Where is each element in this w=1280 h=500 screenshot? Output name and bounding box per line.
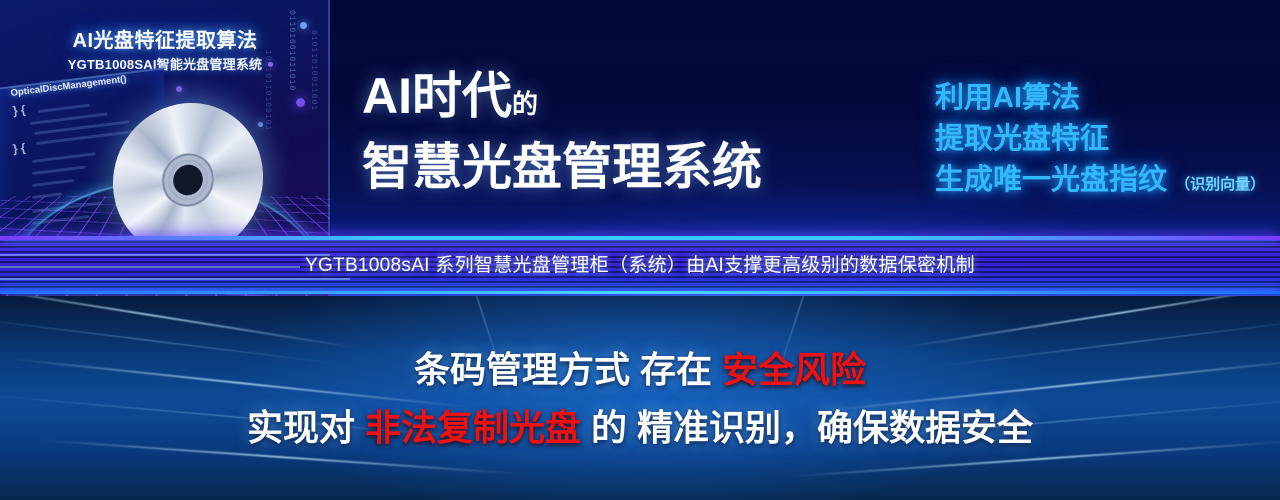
headline-main-text: AI时代 (362, 68, 512, 124)
panel-subtitle: YGTB1008SAI智能光盘管理系统 (0, 54, 330, 73)
bottom-highlight-2: 非法复制光盘 (365, 407, 581, 448)
panel-title: AI光盘特征提取算法 (0, 24, 330, 53)
band-streak (0, 278, 350, 280)
code-brace-close: } { (12, 140, 26, 155)
bottom-text-1a: 条码管理方式 存在 (414, 349, 722, 390)
particle-dot (296, 98, 305, 107)
headline-line-2: 智慧光盘管理系统 (362, 134, 882, 200)
particle-dot (268, 62, 273, 67)
particle-dot (258, 122, 263, 127)
promo-banner: AI光盘特征提取算法 YGTB1008SAI智能光盘管理系统 OpticalDi… (0, 0, 1280, 500)
bottom-text-2b: 的 精准识别，确保数据安全 (581, 407, 1033, 448)
code-brace-open: } { (12, 102, 26, 117)
feature-note: （识别向量） (1175, 176, 1265, 193)
feature-list: 利用AI算法 提取光盘特征 生成唯一光盘指纹 （识别向量） (935, 78, 1275, 205)
binary-stream: 01011010011001 (308, 30, 318, 180)
subtitle-band-text: YGTB1008sAI 系列智慧光盘管理柜（系统）由AI支撑更高级别的数据保密机… (0, 250, 1280, 277)
bottom-headline-2: 实现对 非法复制光盘 的 精准识别，确保数据安全 (0, 399, 1280, 451)
particle-dot (300, 22, 307, 29)
feature-item-3-text: 生成唯一光盘指纹 (935, 164, 1167, 196)
feature-item-1: 利用AI算法 (935, 78, 1275, 119)
headline-block: AI时代的 智慧光盘管理系统 (362, 66, 882, 200)
headline-small-text: 的 (512, 89, 538, 119)
feature-item-3: 生成唯一光盘指纹 （识别向量） (935, 160, 1275, 205)
bottom-highlight-1: 安全风险 (722, 349, 866, 390)
headline-line-1: AI时代的 (362, 66, 882, 134)
bottom-text-2a: 实现对 (247, 407, 365, 448)
particle-dot (176, 86, 182, 92)
top-section: AI光盘特征提取算法 YGTB1008SAI智能光盘管理系统 OpticalDi… (0, 0, 1280, 300)
subtitle-band: YGTB1008sAI 系列智慧光盘管理柜（系统）由AI支撑更高级别的数据保密机… (0, 236, 1280, 294)
bottom-section (0, 296, 1280, 500)
feature-item-2: 提取光盘特征 (935, 119, 1275, 160)
binary-stream: 01101001011010 (286, 10, 296, 150)
bottom-headline-1: 条码管理方式 存在 安全风险 (0, 341, 1280, 393)
